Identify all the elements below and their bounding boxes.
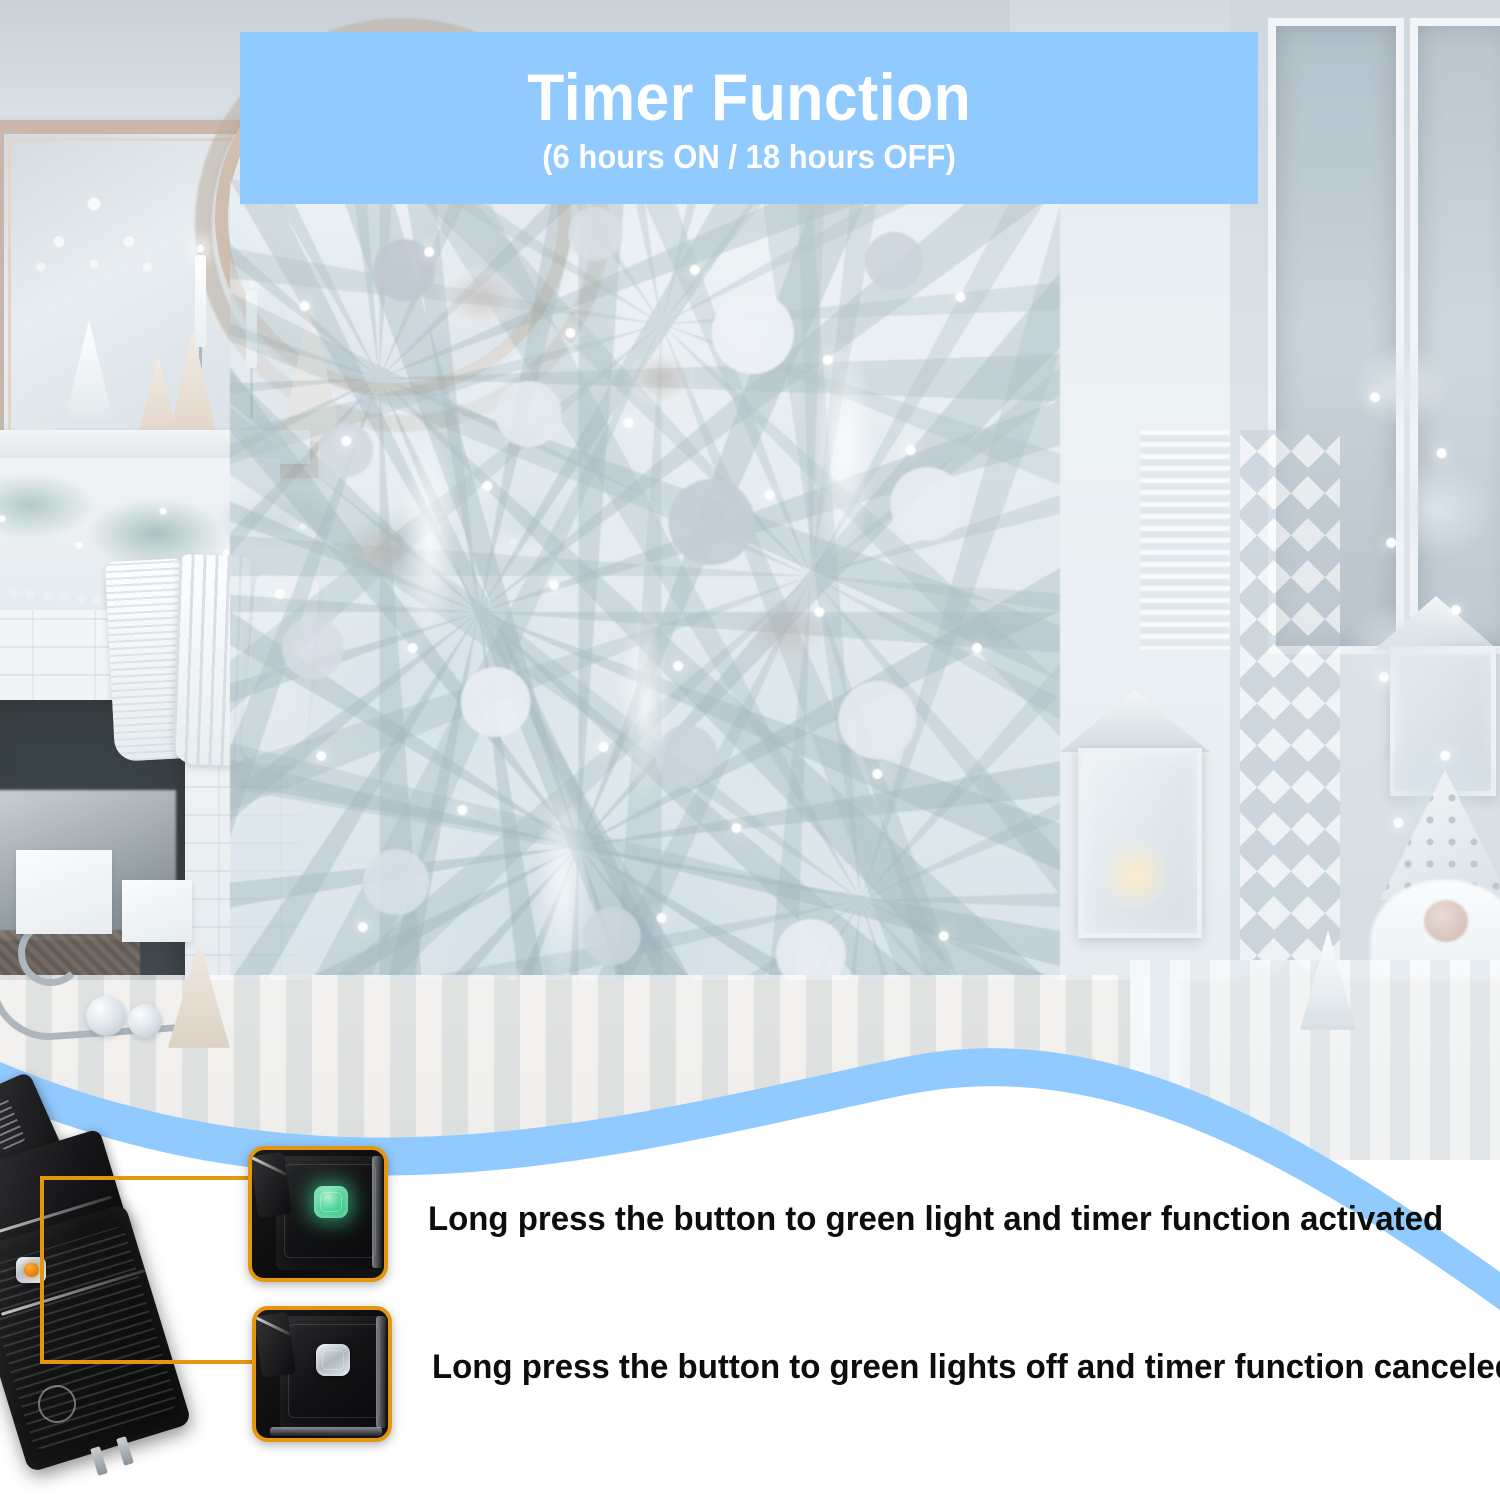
- power-adapter-photo: [0, 1085, 218, 1485]
- product-infographic: Timer Function (6 hours ON / 18 hours OF…: [0, 0, 1500, 1495]
- candle-tall: [195, 255, 206, 347]
- adapter-right-edge-off: [376, 1316, 386, 1428]
- adapter-bottom-edge-off: [270, 1427, 382, 1436]
- chandelier-reflection: [24, 174, 164, 324]
- adapter-prong-1: [90, 1446, 108, 1476]
- adapter-right-edge-on: [372, 1156, 382, 1268]
- caption-timer-off: Long press the button to green lights of…: [432, 1348, 1500, 1387]
- side-tree-lights: [1330, 330, 1500, 890]
- timer-button-inner-off: [322, 1350, 344, 1370]
- caption-timer-on: Long press the button to green light and…: [428, 1200, 1443, 1239]
- lantern-glow-large: [1106, 830, 1166, 920]
- gift-box-2: [122, 880, 192, 942]
- lattice-curtain: [1240, 430, 1340, 990]
- callout-vertical-line: [40, 1176, 44, 1364]
- detail-box-timer-off: [252, 1306, 392, 1442]
- callout-branch-top: [40, 1176, 252, 1180]
- wave-divider: [0, 1010, 1500, 1340]
- page-subtitle: (6 hours ON / 18 hours OFF): [542, 140, 956, 173]
- timer-button-unlit[interactable]: [316, 1344, 350, 1376]
- callout-branch-bottom: [40, 1360, 256, 1364]
- header-banner: Timer Function (6 hours ON / 18 hours OF…: [240, 32, 1258, 204]
- detail-box-timer-on: [248, 1146, 388, 1282]
- adapter-button-indicator: [24, 1263, 39, 1277]
- timer-button-lit-green[interactable]: [314, 1186, 348, 1218]
- gift-box-1: [16, 850, 112, 934]
- tree-fairy-lights: [230, 180, 1060, 1080]
- timer-button-inner-on: [320, 1192, 342, 1212]
- gnome-nose: [1424, 900, 1468, 942]
- page-title: Timer Function: [527, 64, 971, 130]
